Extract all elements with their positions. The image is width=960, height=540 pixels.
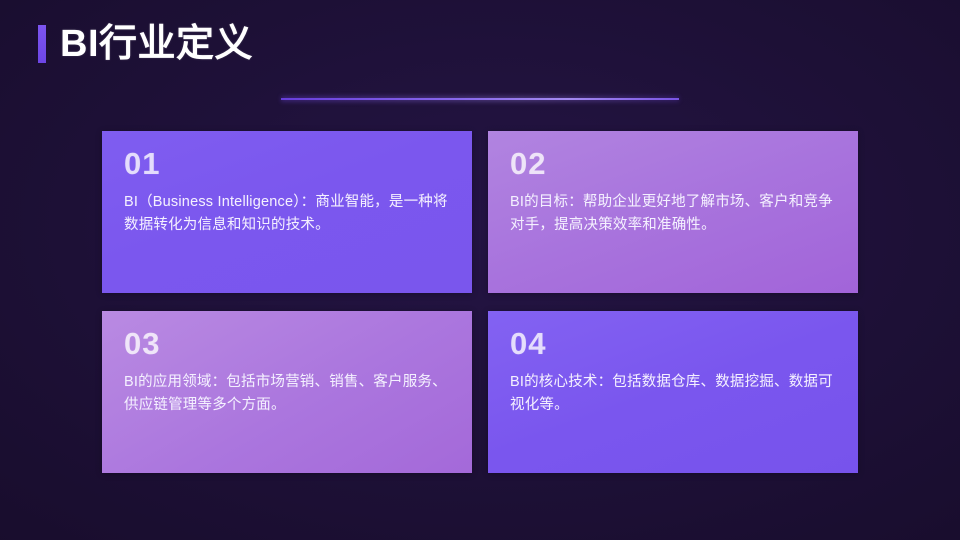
card-number-01: 01: [124, 147, 450, 181]
content-card-grid: 01 BI（Business Intelligence）：商业智能，是一种将数据…: [102, 131, 858, 473]
card-number-02: 02: [510, 147, 836, 181]
card-text-01: BI（Business Intelligence）：商业智能，是一种将数据转化为…: [124, 191, 450, 237]
content-card-03[interactable]: 03 BI的应用领域：包括市场营销、销售、客户服务、供应链管理等多个方面。: [102, 311, 472, 473]
card-text-03: BI的应用领域：包括市场营销、销售、客户服务、供应链管理等多个方面。: [124, 371, 450, 417]
slide-canvas: BI行业定义 01 BI（Business Intelligence）：商业智能…: [0, 0, 960, 540]
title-divider-line: [281, 98, 679, 100]
card-text-02: BI的目标：帮助企业更好地了解市场、客户和竞争对手，提高决策效率和准确性。: [510, 191, 836, 237]
card-number-04: 04: [510, 327, 836, 361]
card-number-03: 03: [124, 327, 450, 361]
slide-title-row: BI行业定义: [38, 21, 253, 67]
content-card-04[interactable]: 04 BI的核心技术：包括数据仓库、数据挖掘、数据可视化等。: [488, 311, 858, 473]
content-card-02[interactable]: 02 BI的目标：帮助企业更好地了解市场、客户和竞争对手，提高决策效率和准确性。: [488, 131, 858, 293]
title-accent-bar: [38, 25, 46, 63]
content-card-01[interactable]: 01 BI（Business Intelligence）：商业智能，是一种将数据…: [102, 131, 472, 293]
page-title: BI行业定义: [60, 23, 253, 65]
card-text-04: BI的核心技术：包括数据仓库、数据挖掘、数据可视化等。: [510, 371, 836, 417]
